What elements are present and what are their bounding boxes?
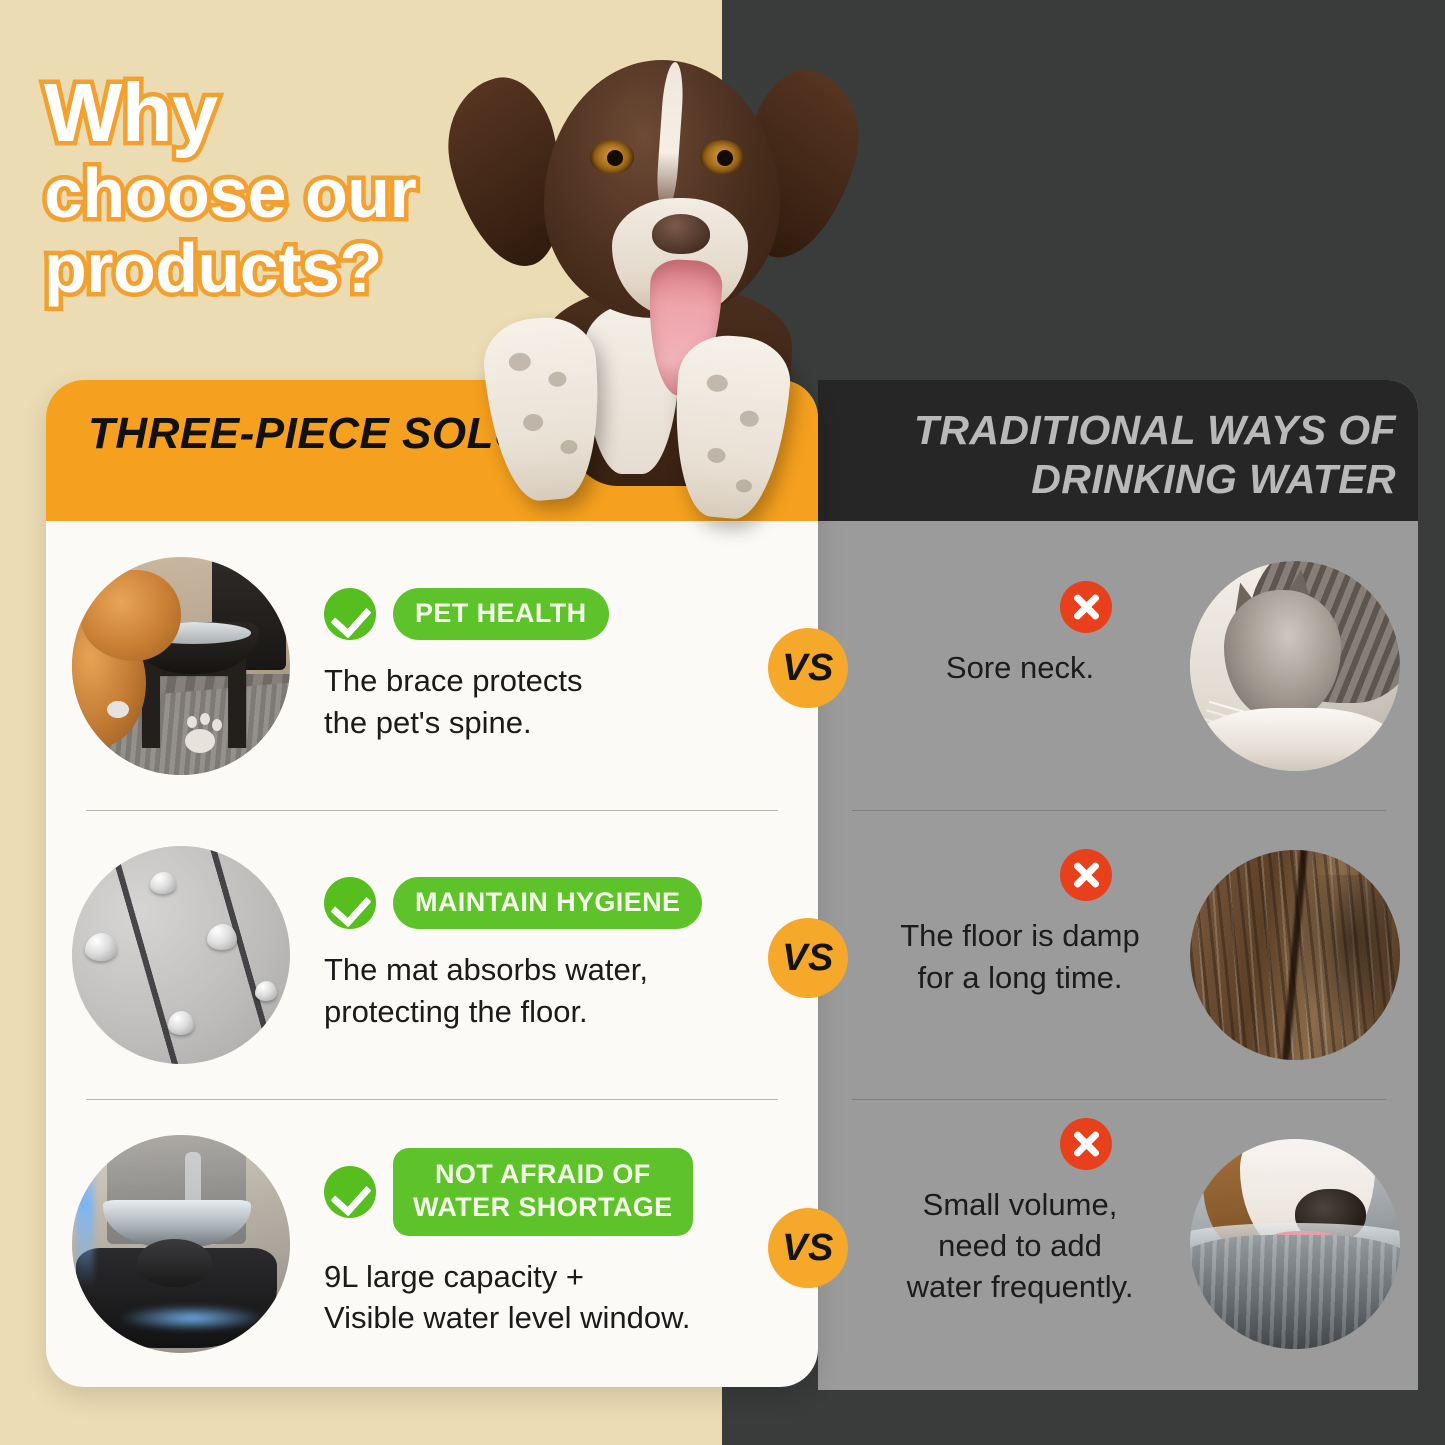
- check-circle-icon: [324, 877, 376, 929]
- infographic-root: Why choose our products? THREE-PIECE SOL…: [0, 0, 1445, 1445]
- headline-line-3: products?: [44, 234, 514, 303]
- feature-thumbnail-capacity: [72, 1135, 290, 1353]
- feature-description: The mat absorbs water, protecting the fl…: [324, 949, 802, 1031]
- drawback-row: Sore neck.: [818, 521, 1418, 810]
- feature-thumbnail-hygiene: [72, 846, 290, 1064]
- feature-heading: PET HEALTH: [324, 588, 802, 640]
- feature-row: NOT AFRAID OF WATER SHORTAGE 9L large ca…: [46, 1099, 818, 1387]
- vs-badge: VS: [768, 628, 848, 708]
- feature-description: 9L large capacity + Visible water level …: [324, 1256, 802, 1338]
- drawback-content: Small volume, need to add water frequent…: [818, 1180, 1190, 1308]
- feature-heading: MAINTAIN HYGIENE: [324, 877, 802, 929]
- left-column-header: THREE-PIECE SOLUTION: [46, 380, 818, 521]
- drawback-content: Sore neck.: [818, 643, 1190, 688]
- feature-badge: MAINTAIN HYGIENE: [393, 877, 702, 929]
- feature-content: PET HEALTH The brace protects the pet's …: [324, 588, 818, 742]
- feature-thumbnail-pet-health: [72, 557, 290, 775]
- drawback-row: Small volume, need to add water frequent…: [818, 1099, 1418, 1388]
- right-header-title: TRADITIONAL WAYS OF DRINKING WATER: [836, 406, 1396, 504]
- traditional-ways-panel: TRADITIONAL WAYS OF DRINKING WATER Sore …: [818, 380, 1418, 1390]
- feature-heading: NOT AFRAID OF WATER SHORTAGE: [324, 1148, 802, 1236]
- drawback-thumbnail-sore-neck: [1190, 561, 1400, 771]
- page-headline: Why choose our products?: [44, 72, 514, 309]
- vs-badge: VS: [768, 1208, 848, 1288]
- feature-content: MAINTAIN HYGIENE The mat absorbs water, …: [324, 877, 818, 1031]
- feature-description: The brace protects the pet's spine.: [324, 660, 802, 742]
- check-circle-icon: [324, 588, 376, 640]
- x-circle-icon: [1060, 849, 1112, 901]
- drawback-content: The floor is damp for a long time.: [818, 911, 1190, 997]
- headline-line-1: Why: [44, 72, 514, 153]
- feature-badge: NOT AFRAID OF WATER SHORTAGE: [393, 1148, 693, 1236]
- feature-row: PET HEALTH The brace protects the pet's …: [46, 521, 818, 810]
- right-drawback-rows: Sore neck. The floor is damp for a long …: [818, 521, 1418, 1388]
- drawback-description: Small volume, need to add water frequent…: [850, 1184, 1190, 1308]
- drawback-thumbnail-damp-floor: [1190, 850, 1400, 1060]
- left-feature-rows: PET HEALTH The brace protects the pet's …: [46, 521, 818, 1387]
- check-circle-icon: [324, 1166, 376, 1218]
- feature-badge: PET HEALTH: [393, 588, 609, 640]
- feature-content: NOT AFRAID OF WATER SHORTAGE 9L large ca…: [324, 1148, 818, 1338]
- right-column-header: TRADITIONAL WAYS OF DRINKING WATER: [818, 380, 1418, 521]
- x-circle-icon: [1060, 581, 1112, 633]
- drawback-description: Sore neck.: [850, 647, 1190, 688]
- vs-badge: VS: [768, 918, 848, 998]
- left-header-title: THREE-PIECE SOLUTION: [88, 408, 633, 460]
- drawback-row: The floor is damp for a long time.: [818, 810, 1418, 1099]
- x-circle-icon: [1060, 1118, 1112, 1170]
- drawback-description: The floor is damp for a long time.: [850, 915, 1190, 997]
- three-piece-solution-card: THREE-PIECE SOLUTION PET HEALTH The brac…: [46, 380, 818, 1387]
- headline-line-2: choose our: [44, 159, 514, 228]
- feature-row: MAINTAIN HYGIENE The mat absorbs water, …: [46, 810, 818, 1099]
- drawback-thumbnail-small-volume: [1190, 1139, 1400, 1349]
